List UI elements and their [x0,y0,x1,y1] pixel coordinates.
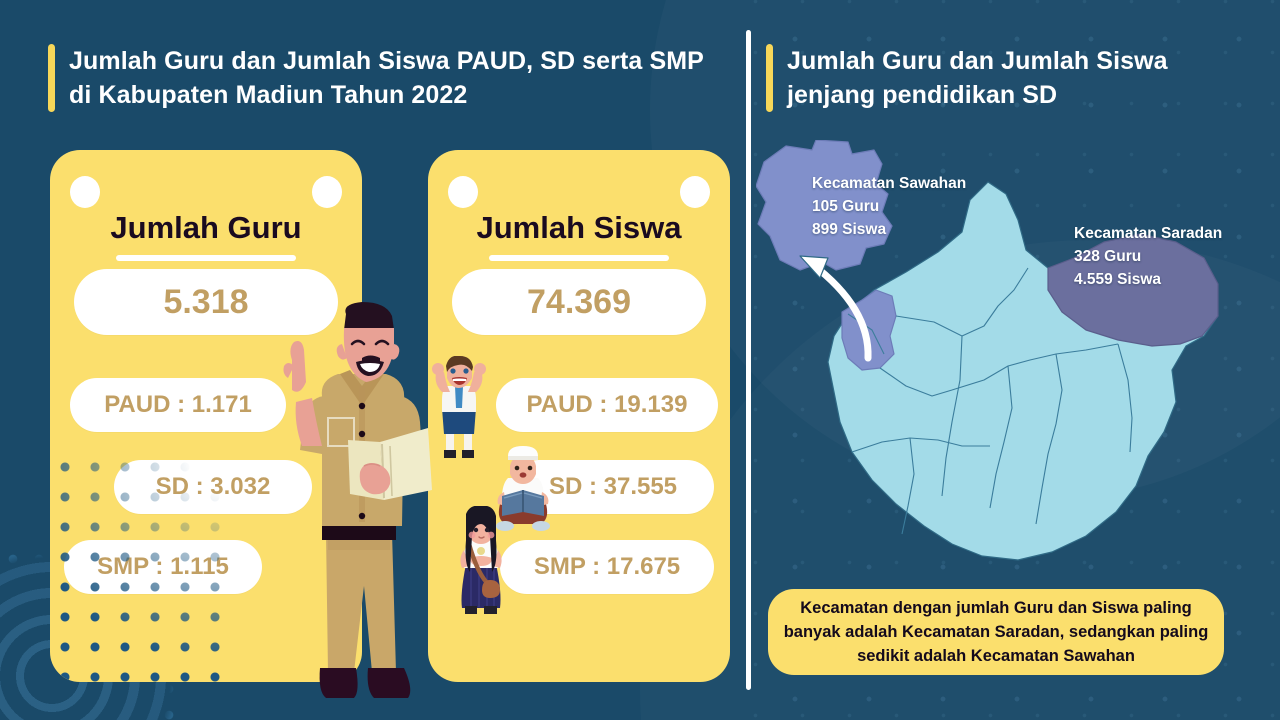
title-accent-bar [48,44,55,112]
panel-divider [746,30,751,690]
siswa-total-value: 74.369 [452,269,706,335]
summary-caption-box: Kecamatan dengan jumlah Guru dan Siswa p… [768,589,1224,675]
left-panel-title: Jumlah Guru dan Jumlah Siswa PAUD, SD se… [48,44,718,112]
summary-caption-text: Kecamatan dengan jumlah Guru dan Siswa p… [782,596,1210,668]
map-label-saradan: Kecamatan Saradan 328 Guru 4.559 Siswa [1074,222,1222,291]
teacher-illustration [268,300,450,720]
student-paud-illustration [428,356,490,466]
map-label-saradan-siswa: 4.559 Siswa [1074,268,1222,291]
punch-hole-left [70,176,100,208]
guru-smp-value: SMP : 1.115 [64,540,262,594]
card-heading-underline [116,255,296,261]
punch-hole-right [680,176,710,208]
map-label-sawahan: Kecamatan Sawahan 105 Guru 899 Siswa [812,172,966,241]
title-accent-bar [766,44,773,112]
right-panel-title: Jumlah Guru dan Jumlah Siswa jenjang pen… [766,44,1236,112]
card-heading-siswa: Jumlah Siswa [428,210,730,246]
map-label-sawahan-name: Kecamatan Sawahan [812,172,966,195]
card-heading-guru: Jumlah Guru [50,210,362,246]
siswa-smp-value: SMP : 17.675 [500,540,714,594]
punch-hole-left [448,176,478,208]
map-label-saradan-name: Kecamatan Saradan [1074,222,1222,245]
map-label-saradan-guru: 328 Guru [1074,245,1222,268]
punch-hole-right [312,176,342,208]
siswa-paud-value: PAUD : 19.139 [496,378,718,432]
card-heading-underline [489,255,669,261]
student-smp-illustration [452,506,510,622]
guru-paud-value: PAUD : 1.171 [70,378,286,432]
infographic-canvas: Jumlah Guru dan Jumlah Siswa PAUD, SD se… [0,0,1280,720]
left-title-text: Jumlah Guru dan Jumlah Siswa PAUD, SD se… [69,44,718,112]
right-title-text: Jumlah Guru dan Jumlah Siswa jenjang pen… [787,44,1236,112]
map-label-sawahan-guru: 105 Guru [812,195,966,218]
map-label-sawahan-siswa: 899 Siswa [812,218,966,241]
